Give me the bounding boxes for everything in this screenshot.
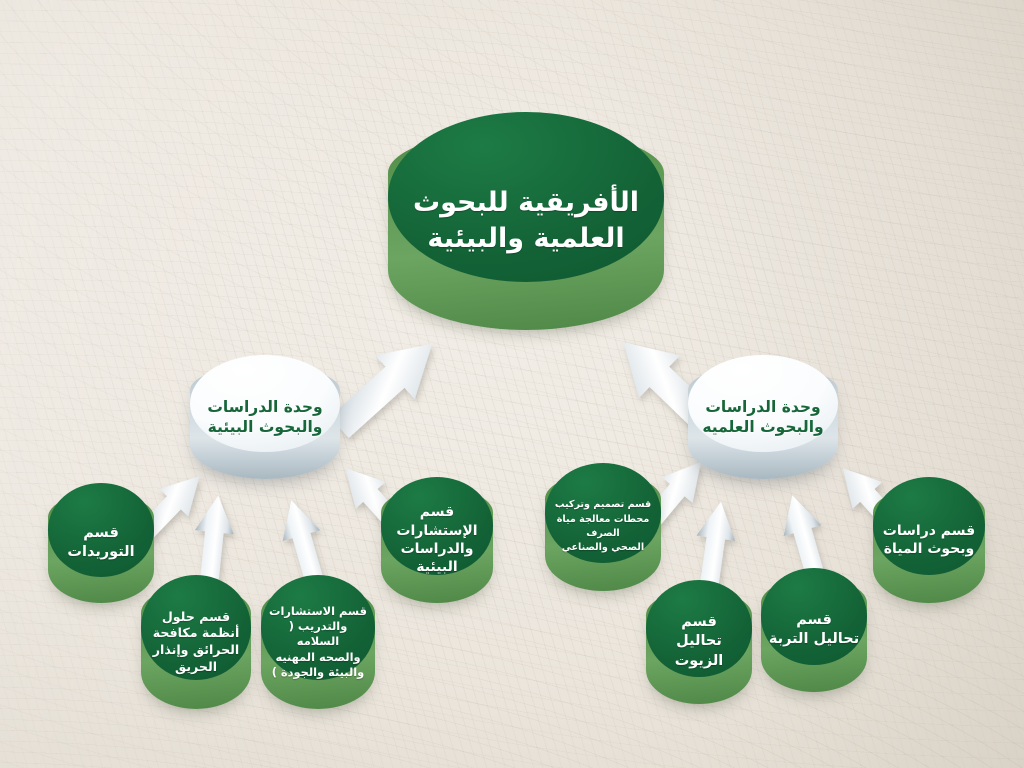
root-node[interactable]: الأفريقية للبحوث العلمية والبيئية	[388, 112, 664, 330]
leaf-node-fire-systems[interactable]: قسم حلول أنظمة مكافحة الحرائق وإنذار الح…	[141, 575, 251, 709]
root-node-label: الأفريقية للبحوث العلمية والبيئية	[407, 185, 645, 256]
branch-node-environmental[interactable]: وحدة الدراسات والبحوث البيئية	[190, 355, 340, 479]
leaf-node-label: قسم دراسات وبحوث المياة	[877, 522, 981, 559]
leaf-node-label: قسم حلول أنظمة مكافحة الحرائق وإنذار الح…	[147, 609, 246, 675]
leaf-node-label: قسم التوريدات	[48, 524, 154, 562]
leaf-node-wastewater[interactable]: قسم تصميم وتركيب محطات معالجة مياة الصرف…	[545, 463, 661, 591]
leaf-node-water-research[interactable]: قسم دراسات وبحوث المياة	[873, 477, 985, 603]
leaf-node-env-consulting[interactable]: قسم الإستشارات والدراسات البيئية	[381, 477, 493, 603]
diagram-canvas: الأفريقية للبحوث العلمية والبيئية وحدة ا…	[0, 0, 1024, 768]
leaf-node-oil-analysis[interactable]: قسم تحاليل الزيوت	[646, 580, 752, 704]
branch-node-label: وحدة الدراسات والبحوث البيئية	[201, 397, 328, 438]
leaf-node-consulting-training[interactable]: قسم الاستشارات والتدريب ( السلامه والصحه…	[261, 575, 375, 709]
leaf-node-soil-analysis[interactable]: قسم تحاليل التربة	[761, 568, 867, 692]
branch-node-scientific[interactable]: وحدة الدراسات والبحوث العلميه	[688, 355, 838, 479]
leaf-node-label: قسم الإستشارات والدراسات البيئية	[381, 503, 493, 577]
leaf-node-label: قسم تحاليل التربة	[763, 611, 865, 649]
leaf-node-label: قسم تحاليل الزيوت	[646, 613, 752, 670]
leaf-node-supplies[interactable]: قسم التوريدات	[48, 483, 154, 603]
leaf-node-label: قسم تصميم وتركيب محطات معالجة مياة الصرف…	[545, 498, 661, 556]
branch-node-label: وحدة الدراسات والبحوث العلميه	[696, 397, 829, 438]
leaf-node-label: قسم الاستشارات والتدريب ( السلامه والصحه…	[261, 604, 375, 679]
